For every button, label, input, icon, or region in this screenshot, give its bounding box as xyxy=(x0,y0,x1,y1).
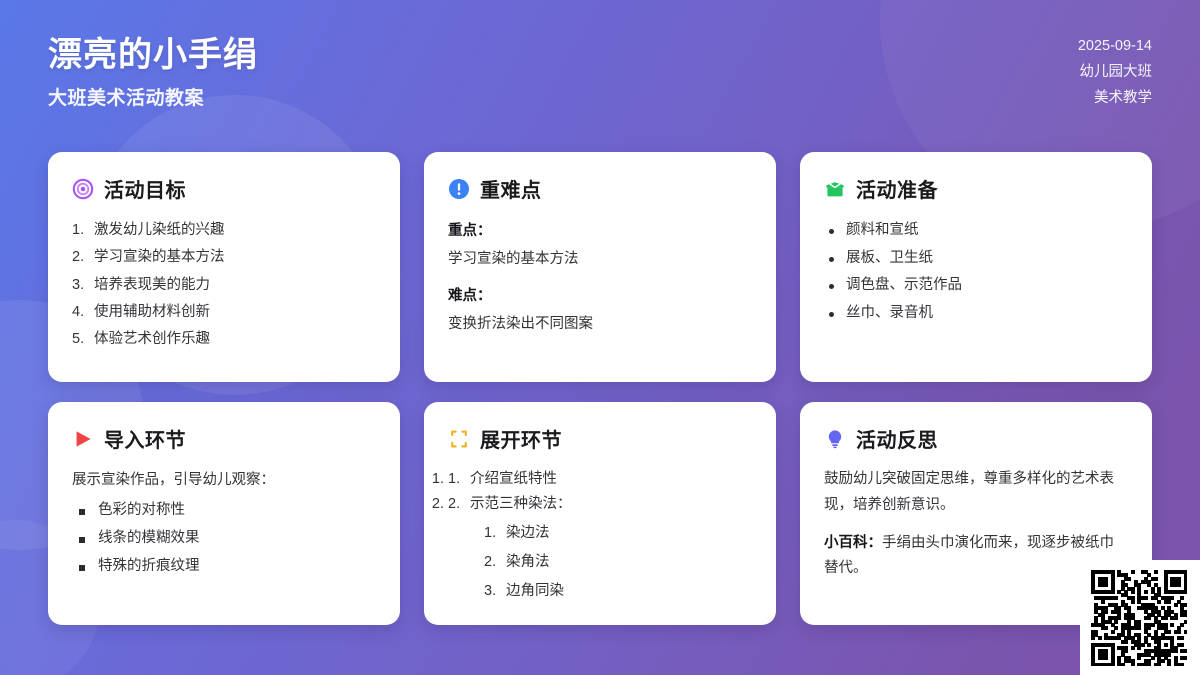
objectives-list: 1.激发幼儿染纸的兴趣 2.学习宣染的基本方法 3.培养表现美的能力 4.使用辅… xyxy=(72,217,376,353)
page-subtitle: 大班美术活动教案 xyxy=(48,83,258,110)
header-meta: 2025-09-14 幼儿园大班 美术教学 xyxy=(1078,36,1152,109)
card-header: 重难点 xyxy=(448,174,752,203)
difficult-point-label: 难点： xyxy=(448,282,752,310)
sub-list-item: 1.染边法 xyxy=(484,519,752,548)
list-item: 1.激发幼儿染纸的兴趣 xyxy=(72,217,376,244)
introduction-lead: 展示宣染作品，引导幼儿观察： xyxy=(72,467,376,493)
meta-grade: 幼儿园大班 xyxy=(1080,62,1153,84)
list-item: 1.介绍宣纸特性 xyxy=(448,467,752,492)
meta-subject: 美术教学 xyxy=(1094,88,1152,110)
exclamation-circle-icon xyxy=(448,178,470,200)
card-grid: 活动目标 1.激发幼儿染纸的兴趣 2.学习宣染的基本方法 3.培养表现美的能力 … xyxy=(48,152,1152,625)
list-item: 2.学习宣染的基本方法 xyxy=(72,244,376,271)
card-preparation: 活动准备 颜料和宣纸 展板、卫生纸 调色盘、示范作品 丝巾、录音机 xyxy=(800,152,1152,382)
card-title: 重难点 xyxy=(480,174,542,203)
list-item: 2.示范三种染法： 1.染边法 2.染角法 3.边角同染 xyxy=(448,492,752,606)
title-block: 漂亮的小手绢 大班美术活动教案 xyxy=(48,36,258,110)
play-triangle-icon xyxy=(72,428,94,450)
difficult-point-value: 变换折法染出不同图案 xyxy=(448,310,752,338)
package-icon xyxy=(824,178,846,200)
list-item: 特殊的折痕纹理 xyxy=(72,553,376,581)
introduction-list: 色彩的对称性 线条的模糊效果 特殊的折痕纹理 xyxy=(72,497,376,580)
list-item: 5.体验艺术创作乐趣 xyxy=(72,326,376,353)
qr-code-image xyxy=(1091,570,1187,666)
card-body: 1.激发幼儿染纸的兴趣 2.学习宣染的基本方法 3.培养表现美的能力 4.使用辅… xyxy=(72,217,376,353)
development-sublist: 1.染边法 2.染角法 3.边角同染 xyxy=(470,519,752,606)
card-title: 活动准备 xyxy=(856,174,938,203)
preparation-list: 颜料和宣纸 展板、卫生纸 调色盘、示范作品 丝巾、录音机 xyxy=(824,217,1128,327)
slide-canvas: 漂亮的小手绢 大班美术活动教案 2025-09-14 幼儿园大班 美术教学 活动… xyxy=(0,0,1200,675)
card-header: 活动目标 xyxy=(72,174,376,203)
card-header: 展开环节 xyxy=(448,424,752,453)
card-body: 颜料和宣纸 展板、卫生纸 调色盘、示范作品 丝巾、录音机 xyxy=(824,217,1128,327)
list-item: 线条的模糊效果 xyxy=(72,525,376,553)
list-item: 调色盘、示范作品 xyxy=(824,272,1128,300)
key-point-value: 学习宣染的基本方法 xyxy=(448,245,752,273)
target-icon xyxy=(72,178,94,200)
card-title: 导入环节 xyxy=(104,424,186,453)
card-header: 活动反思 xyxy=(824,424,1128,453)
key-point-label: 重点： xyxy=(448,217,752,245)
lightbulb-icon xyxy=(824,428,846,450)
development-list: 1.介绍宣纸特性 2.示范三种染法： 1.染边法 2.染角法 3.边角同染 xyxy=(448,467,752,606)
card-body: 重点： 学习宣染的基本方法 难点： 变换折法染出不同图案 xyxy=(448,217,752,346)
list-item: 展板、卫生纸 xyxy=(824,245,1128,273)
card-introduction: 导入环节 展示宣染作品，引导幼儿观察： 色彩的对称性 线条的模糊效果 特殊的折痕… xyxy=(48,402,400,625)
card-development: 展开环节 1.介绍宣纸特性 2.示范三种染法： 1.染边法 2.染角法 3.边角… xyxy=(424,402,776,625)
card-title: 展开环节 xyxy=(480,424,562,453)
list-item: 色彩的对称性 xyxy=(72,497,376,525)
card-objectives: 活动目标 1.激发幼儿染纸的兴趣 2.学习宣染的基本方法 3.培养表现美的能力 … xyxy=(48,152,400,382)
list-item: 颜料和宣纸 xyxy=(824,217,1128,245)
card-title: 活动反思 xyxy=(856,424,938,453)
meta-date: 2025-09-14 xyxy=(1078,36,1152,58)
list-item: 4.使用辅助材料创新 xyxy=(72,299,376,326)
page-title: 漂亮的小手绢 xyxy=(48,36,258,75)
note-label: 小百科： xyxy=(824,535,882,551)
card-title: 活动目标 xyxy=(104,174,186,203)
slide-header: 漂亮的小手绢 大班美术活动教案 2025-09-14 幼儿园大班 美术教学 xyxy=(0,0,1200,140)
reflection-paragraph: 鼓励幼儿突破固定思维，尊重多样化的艺术表现，培养创新意识。 xyxy=(824,467,1128,519)
list-item: 丝巾、录音机 xyxy=(824,300,1128,328)
expand-corners-icon xyxy=(448,428,470,450)
card-body: 1.介绍宣纸特性 2.示范三种染法： 1.染边法 2.染角法 3.边角同染 xyxy=(448,467,752,606)
qr-code[interactable] xyxy=(1080,560,1200,675)
sub-list-item: 3.边角同染 xyxy=(484,577,752,606)
card-header: 导入环节 xyxy=(72,424,376,453)
sub-list-item: 2.染角法 xyxy=(484,548,752,577)
card-key-points: 重难点 重点： 学习宣染的基本方法 难点： 变换折法染出不同图案 xyxy=(424,152,776,382)
card-header: 活动准备 xyxy=(824,174,1128,203)
card-body: 展示宣染作品，引导幼儿观察： 色彩的对称性 线条的模糊效果 特殊的折痕纹理 xyxy=(72,467,376,581)
list-item: 3.培养表现美的能力 xyxy=(72,272,376,299)
